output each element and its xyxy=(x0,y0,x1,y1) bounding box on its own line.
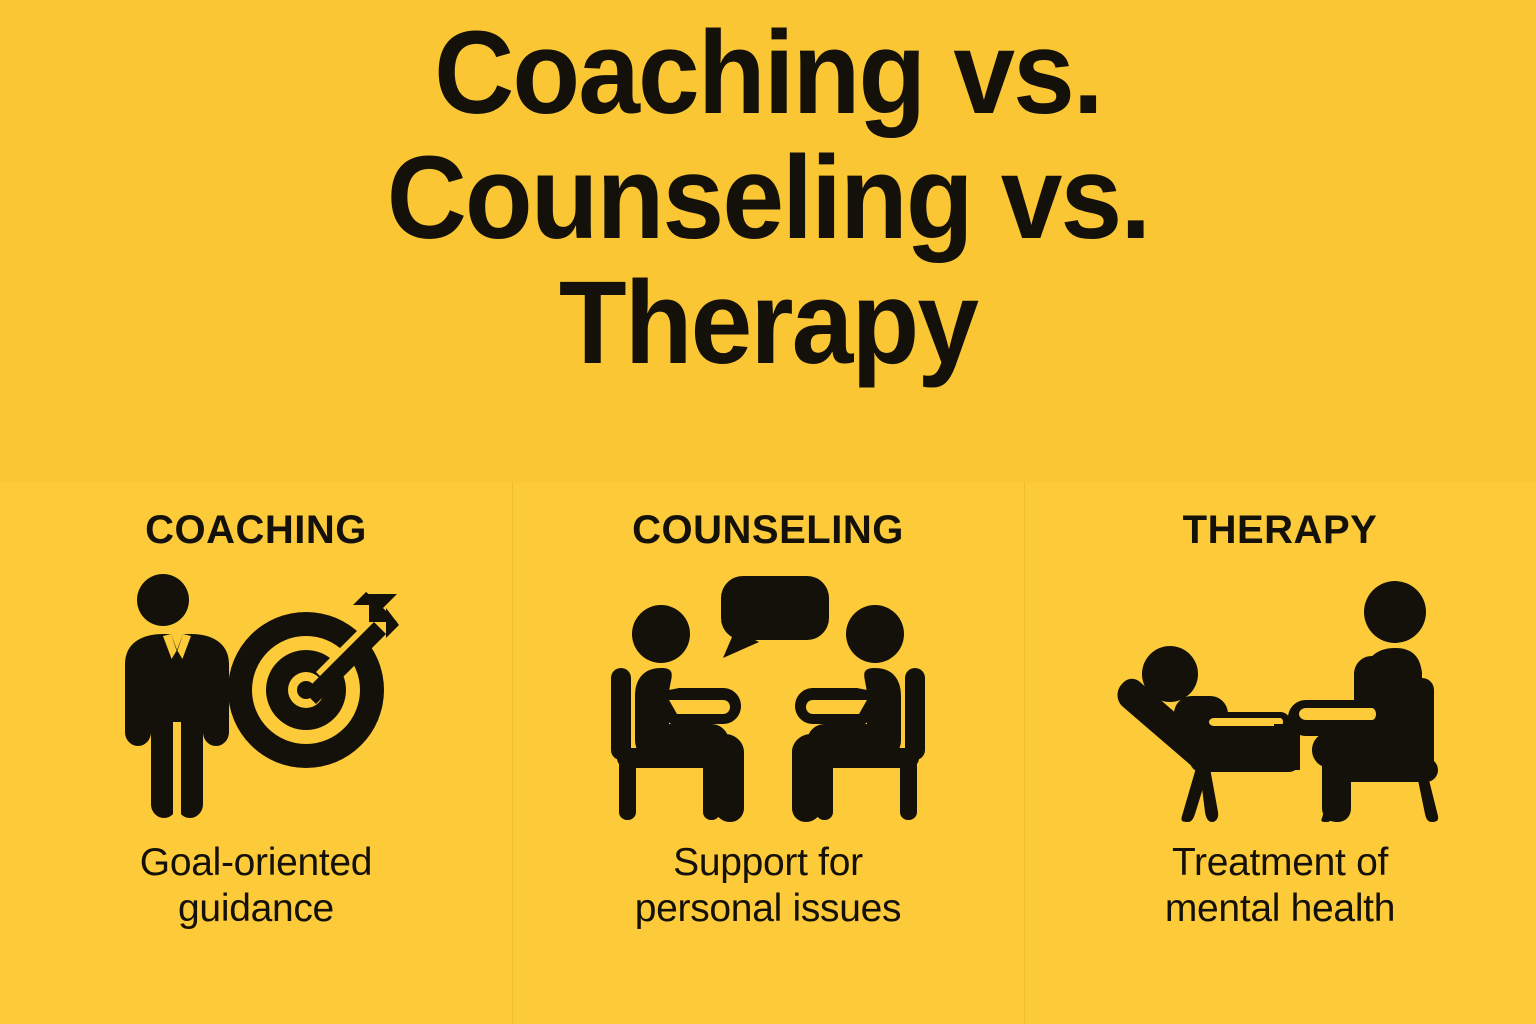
caption-line-1: Support for xyxy=(635,840,901,886)
column-counseling: COUNSELING xyxy=(512,482,1024,1024)
title-line-3: Therapy xyxy=(251,261,1285,386)
caption-line-2: guidance xyxy=(140,886,372,932)
column-therapy: THERAPY xyxy=(1024,482,1536,1024)
title-line-2: Counseling vs. xyxy=(251,136,1285,261)
caption-line-1: Treatment of xyxy=(1165,840,1395,886)
comparison-columns: COACHING xyxy=(0,482,1536,1024)
two-people-talking-icon xyxy=(603,572,933,822)
caption-line-2: personal issues xyxy=(635,886,901,932)
column-heading-coaching: COACHING xyxy=(145,510,367,550)
column-caption-counseling: Support for personal issues xyxy=(635,840,901,932)
header-band: Coaching vs. Counseling vs. Therapy xyxy=(0,0,1536,482)
infographic-poster: Coaching vs. Counseling vs. Therapy COAC… xyxy=(0,0,1536,1024)
column-caption-coaching: Goal-oriented guidance xyxy=(140,840,372,932)
caption-line-2: mental health xyxy=(1165,886,1395,932)
businessman-with-target-icon xyxy=(111,572,401,822)
title-line-1: Coaching vs. xyxy=(251,11,1285,136)
column-coaching: COACHING xyxy=(0,482,512,1024)
column-heading-therapy: THERAPY xyxy=(1183,510,1378,550)
column-caption-therapy: Treatment of mental health xyxy=(1165,840,1395,932)
caption-line-1: Goal-oriented xyxy=(140,840,372,886)
page-title: Coaching vs. Counseling vs. Therapy xyxy=(251,11,1285,386)
column-heading-counseling: COUNSELING xyxy=(632,510,904,550)
patient-on-couch-with-therapist-icon xyxy=(1110,572,1450,822)
